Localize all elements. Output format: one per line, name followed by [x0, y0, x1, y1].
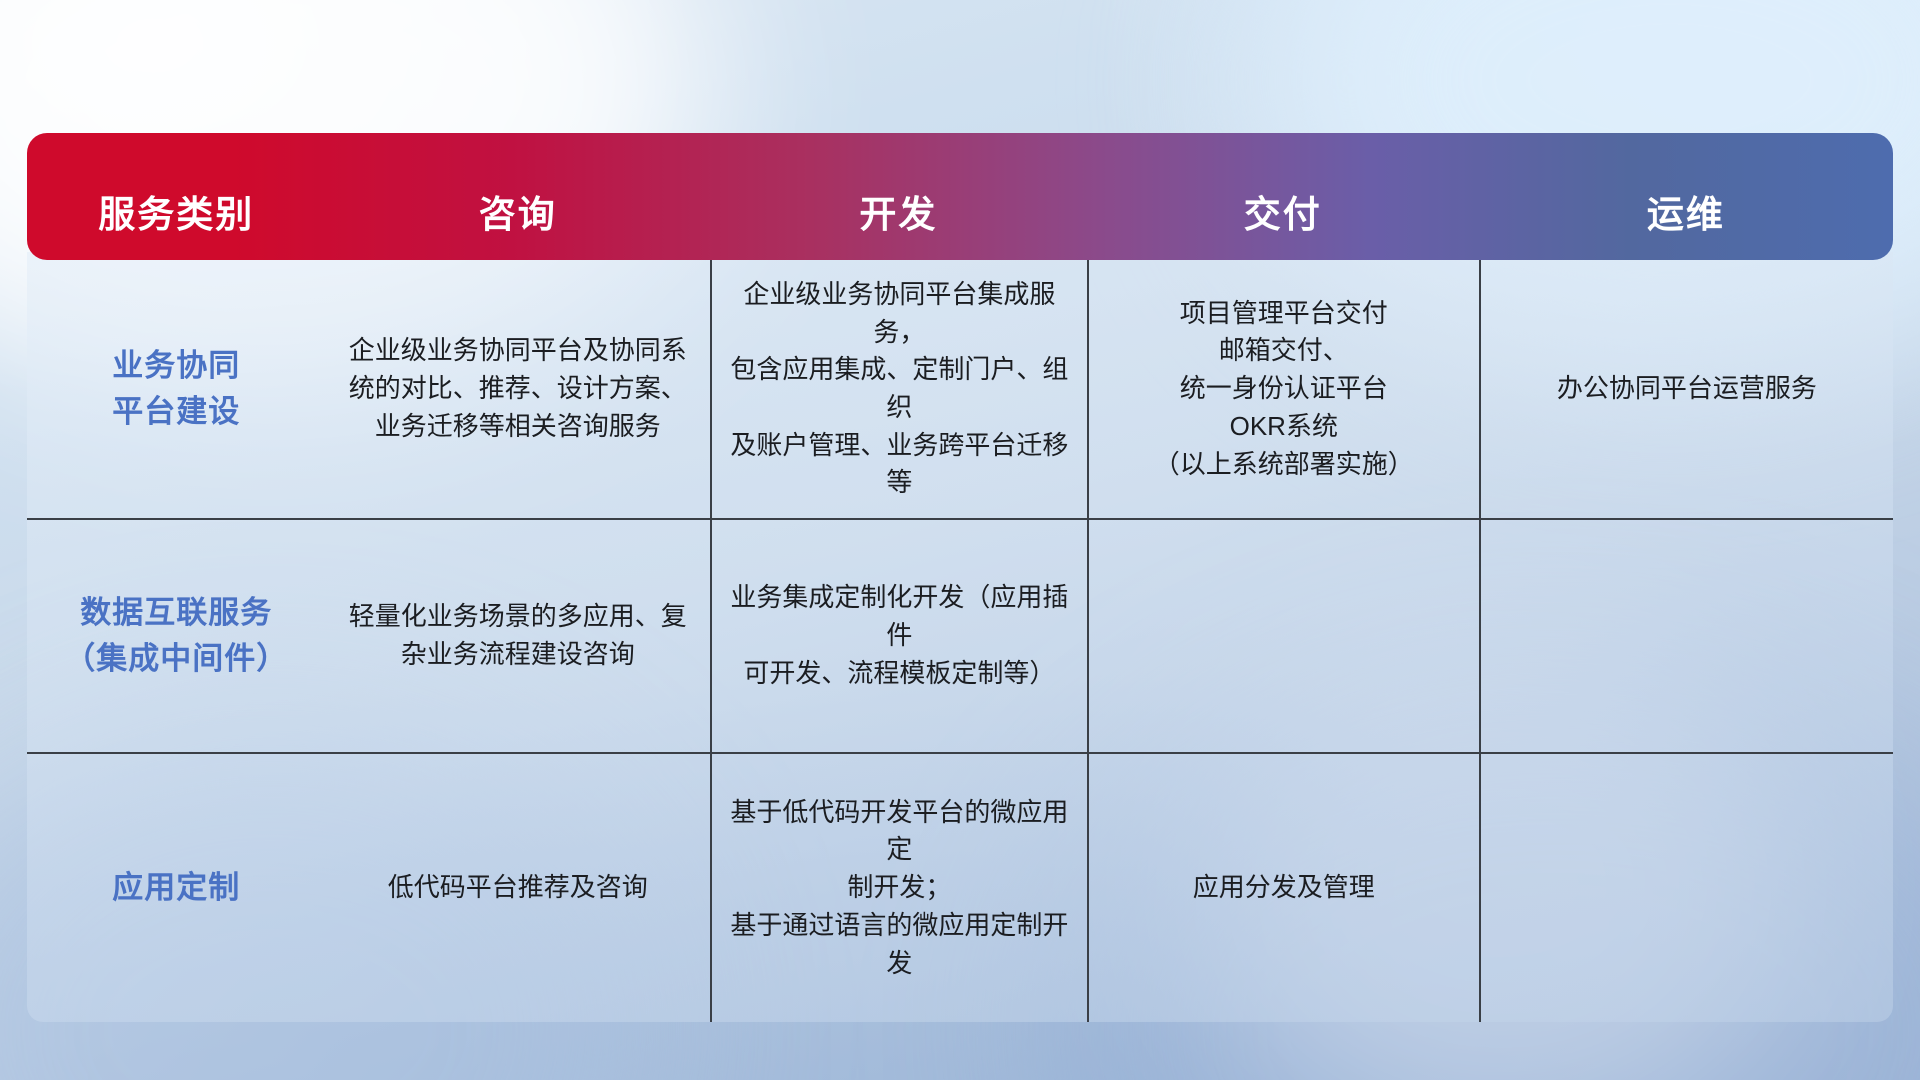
cell-row2-operations — [1479, 520, 1893, 752]
cell-row1-development: 企业级业务协同平台集成服务， 包含应用集成、定制门户、组织 及账户管理、业务跨平… — [710, 260, 1087, 518]
cell-row2-development: 业务集成定制化开发（应用插件 可开发、流程模板定制等） — [710, 520, 1087, 752]
cell-row1-consulting: 企业级业务协同平台及协同系 统的对比、推荐、设计方案、 业务迁移等相关咨询服务 — [326, 260, 710, 518]
service-matrix-table: 服务类别 咨询 开发 交付 运维 业务协同 平台建设 企业级业务协同平台及协同系… — [27, 133, 1893, 1022]
cell-row3-consulting: 低代码平台推荐及咨询 — [326, 754, 710, 1022]
table-body: 业务协同 平台建设 企业级业务协同平台及协同系 统的对比、推荐、设计方案、 业务… — [27, 252, 1893, 1022]
table-header-row: 服务类别 咨询 开发 交付 运维 — [27, 133, 1893, 260]
cell-row3-operations — [1479, 754, 1893, 1022]
cell-row2-consulting: 轻量化业务场景的多应用、复 杂业务流程建设咨询 — [326, 520, 710, 752]
slide-canvas: 服务类别 咨询 开发 交付 运维 业务协同 平台建设 企业级业务协同平台及协同系… — [0, 0, 1920, 1080]
column-header-consulting: 咨询 — [326, 133, 710, 260]
cell-row2-delivery — [1087, 520, 1479, 752]
cell-row1-delivery: 项目管理平台交付 邮箱交付、 统一身份认证平台 OKR系统 （以上系统部署实施） — [1087, 260, 1479, 518]
row-label-app-customization: 应用定制 — [27, 754, 326, 1022]
column-header-operations: 运维 — [1479, 133, 1893, 260]
cell-row1-operations: 办公协同平台运营服务 — [1479, 260, 1893, 518]
cell-row3-delivery: 应用分发及管理 — [1087, 754, 1479, 1022]
table-row: 应用定制 低代码平台推荐及咨询 基于低代码开发平台的微应用定 制开发； 基于通过… — [27, 754, 1893, 1022]
column-header-development: 开发 — [710, 133, 1087, 260]
row-label-business-collaboration: 业务协同 平台建设 — [27, 260, 326, 518]
column-header-service-category: 服务类别 — [27, 133, 326, 260]
table-row: 业务协同 平台建设 企业级业务协同平台及协同系 统的对比、推荐、设计方案、 业务… — [27, 260, 1893, 520]
row-label-data-interconnect: 数据互联服务 （集成中间件） — [27, 520, 326, 752]
column-header-delivery: 交付 — [1087, 133, 1479, 260]
table-row: 数据互联服务 （集成中间件） 轻量化业务场景的多应用、复 杂业务流程建设咨询 业… — [27, 520, 1893, 754]
cell-row3-development: 基于低代码开发平台的微应用定 制开发； 基于通过语言的微应用定制开发 — [710, 754, 1087, 1022]
